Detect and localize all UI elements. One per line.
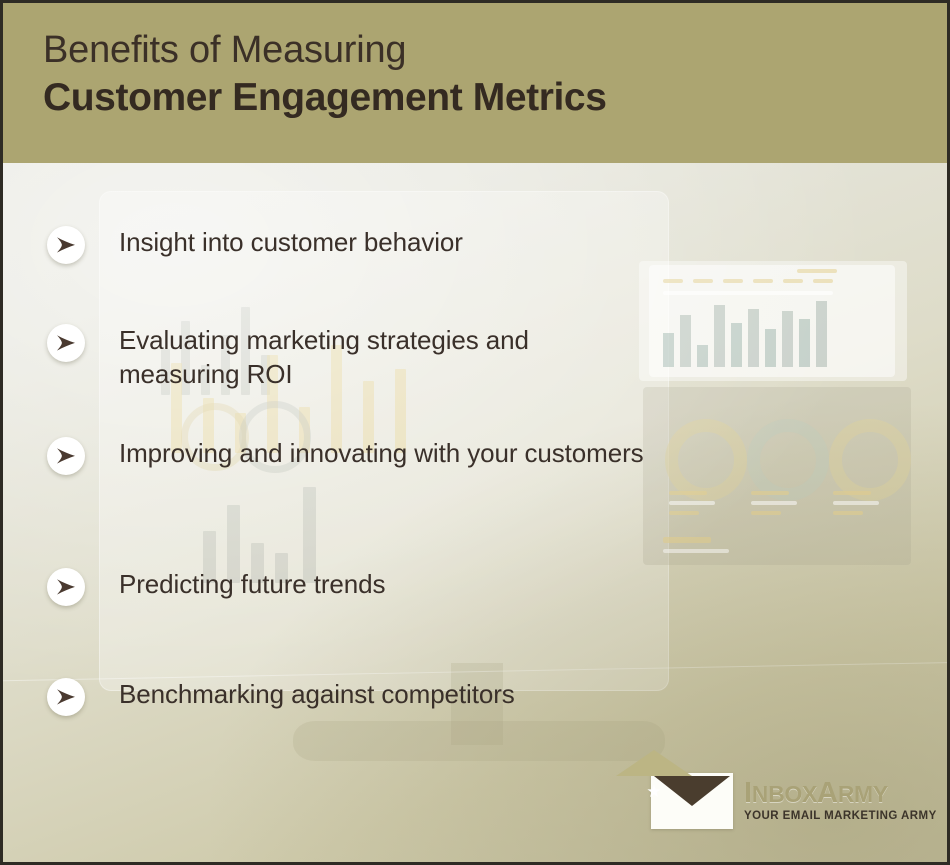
infographic-canvas: Benefits of Measuring Customer Engagemen… xyxy=(0,0,950,865)
list-item: Predicting future trends xyxy=(47,568,385,606)
header-band: Benefits of Measuring Customer Engagemen… xyxy=(3,3,947,163)
arrow-right-icon xyxy=(47,437,85,475)
page-title-line2: Customer Engagement Metrics xyxy=(43,75,947,121)
arrow-right-icon xyxy=(47,226,85,264)
envelope-star-icon: ★ xyxy=(651,773,733,829)
list-item-label: Improving and innovating with your custo… xyxy=(119,437,644,471)
list-item: Improving and innovating with your custo… xyxy=(47,437,644,475)
brand-inbox: NBOX xyxy=(752,781,817,807)
list-item-label: Insight into customer behavior xyxy=(119,226,463,260)
brand-initial-i: I xyxy=(744,777,752,809)
list-item: Insight into customer behavior xyxy=(47,226,463,264)
list-item: Evaluating marketing strategies and meas… xyxy=(47,324,649,392)
brand-logo[interactable]: ★ INBOXARMY YOUR EMAIL MARKETING ARMY xyxy=(651,773,937,829)
brand-tagline: YOUR EMAIL MARKETING ARMY xyxy=(744,811,937,823)
brand-initial-a: A xyxy=(817,777,838,809)
list-item-label: Predicting future trends xyxy=(119,568,385,602)
arrow-right-icon xyxy=(47,568,85,606)
list-item-label: Evaluating marketing strategies and meas… xyxy=(119,324,649,392)
arrow-right-icon xyxy=(47,324,85,362)
arrow-right-icon xyxy=(47,678,85,716)
brand-name: INBOXARMY xyxy=(744,777,888,809)
list-item: Benchmarking against competitors xyxy=(47,678,515,716)
list-item-label: Benchmarking against competitors xyxy=(119,678,515,712)
brand-army: RMY xyxy=(838,781,888,807)
page-title-line1: Benefits of Measuring xyxy=(43,29,947,72)
